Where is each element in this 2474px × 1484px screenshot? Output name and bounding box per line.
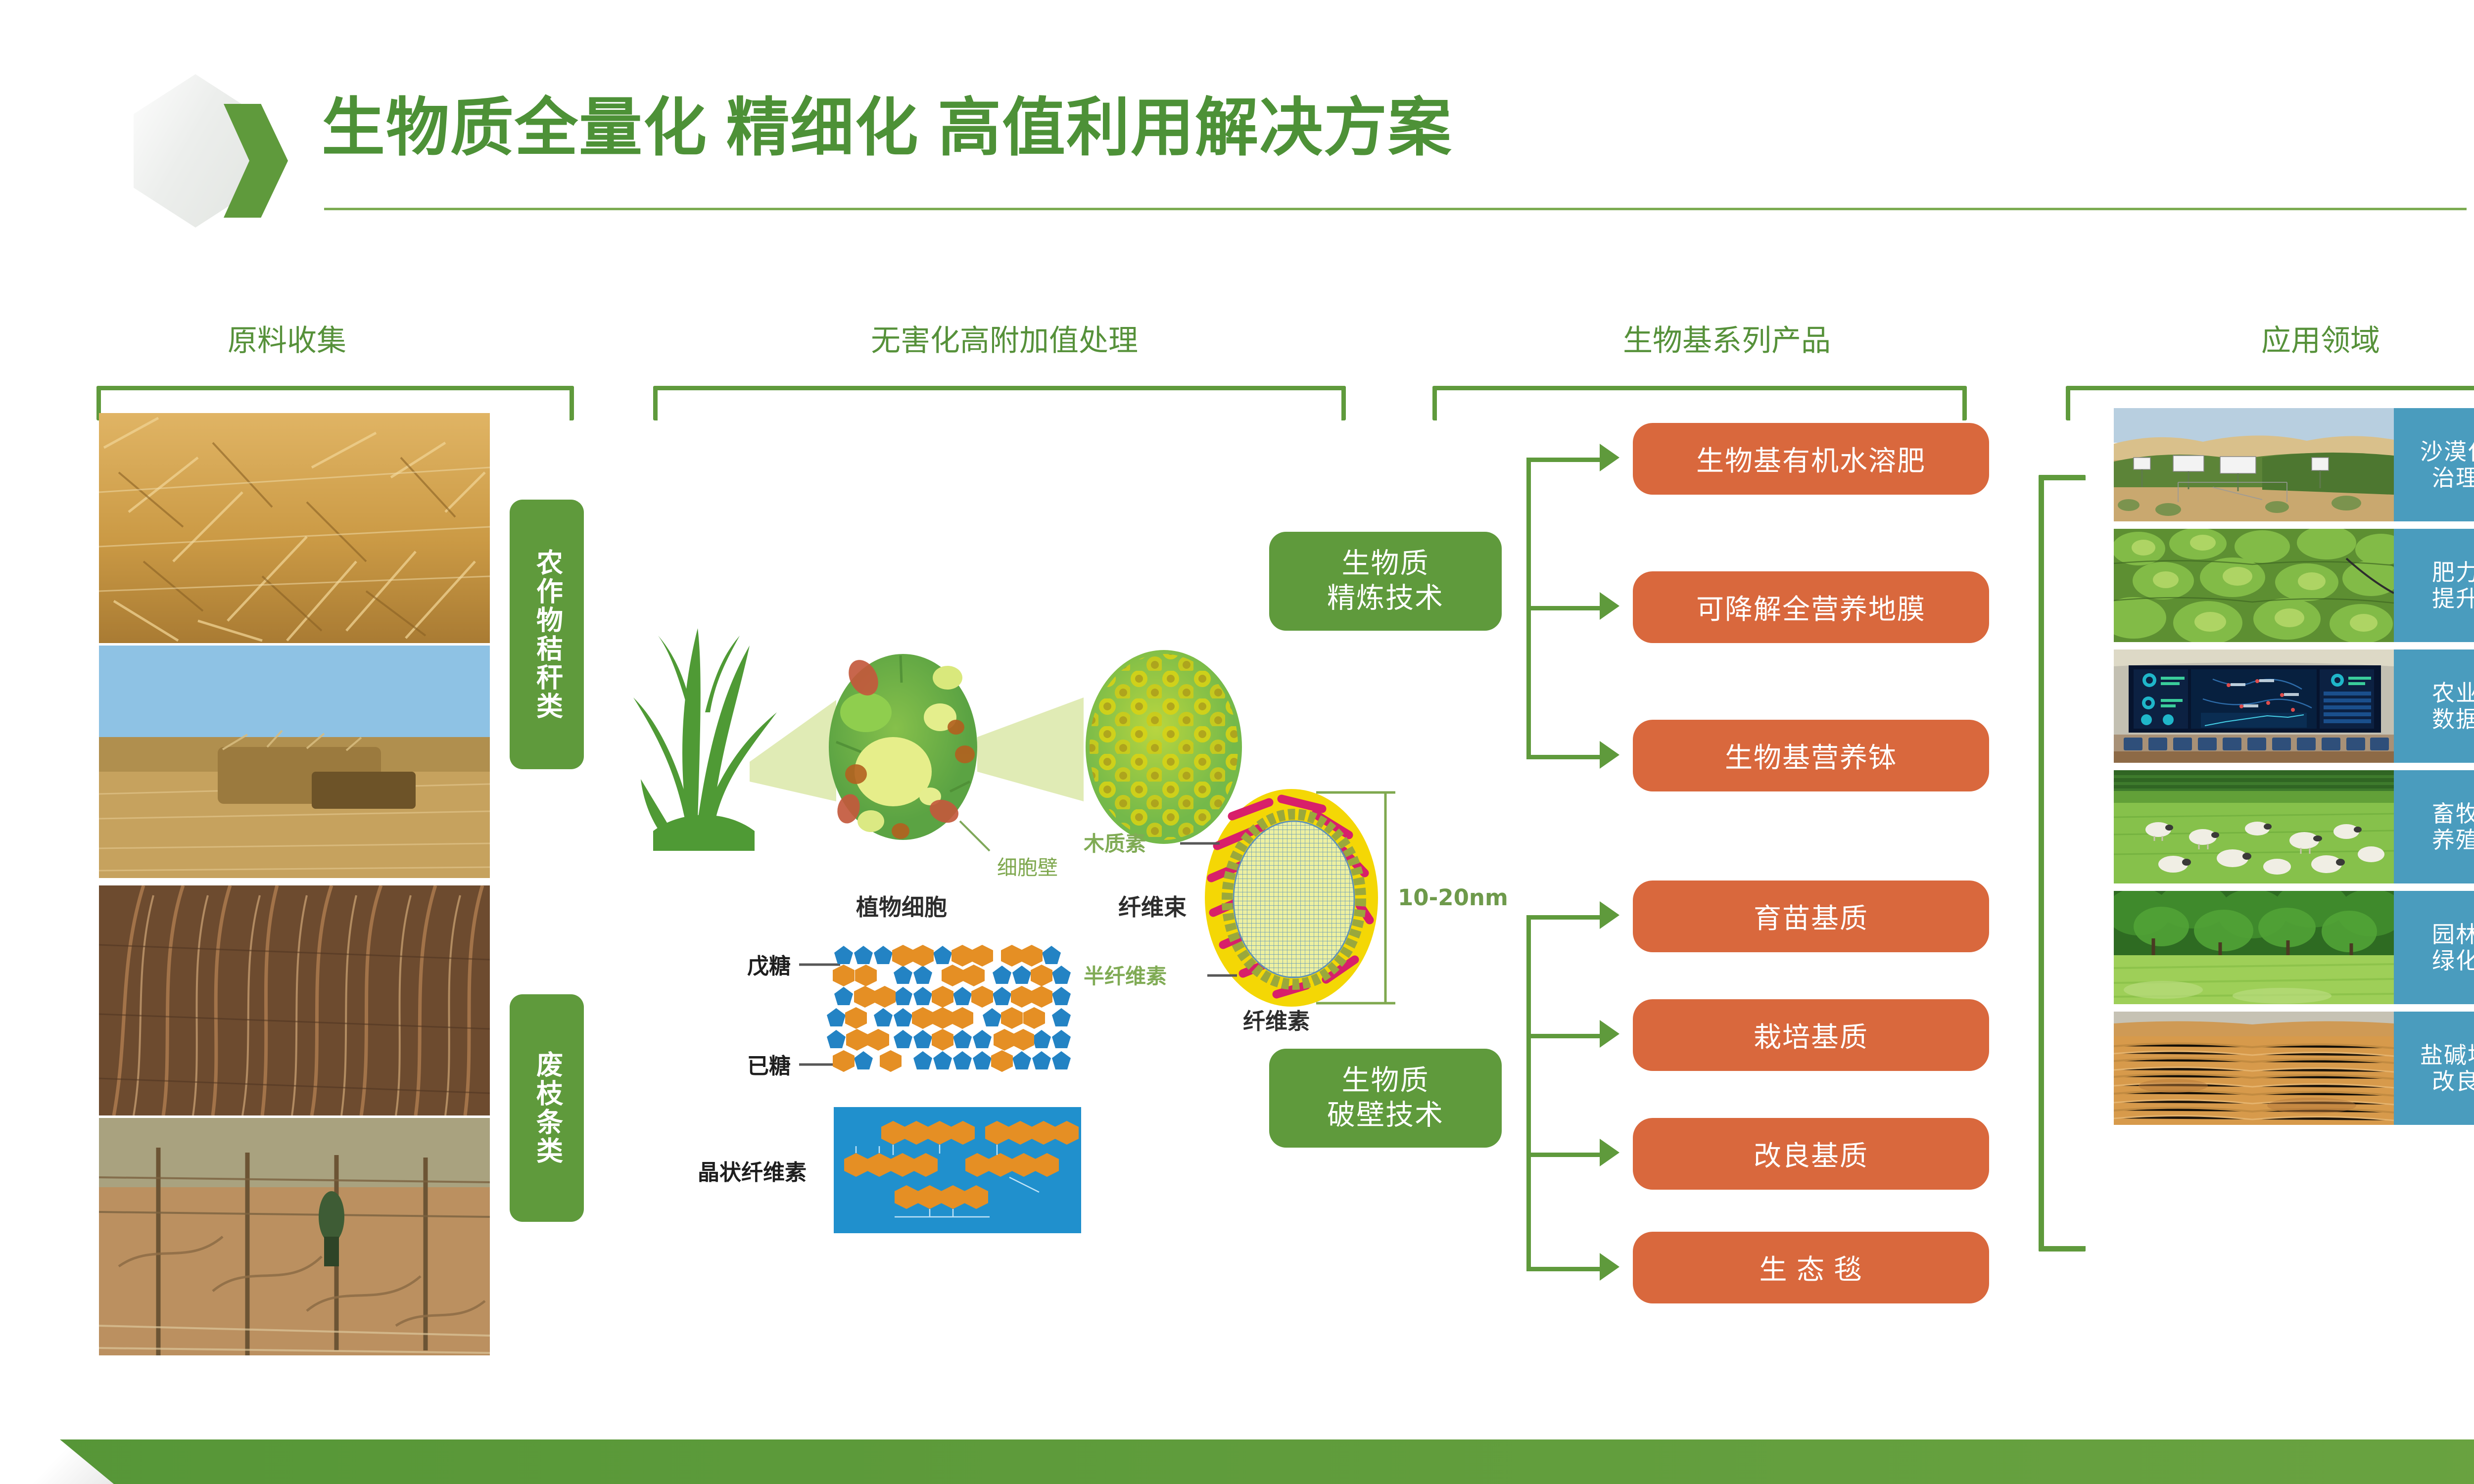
app-3-line1: 农业 (2432, 680, 2474, 706)
application-row-1[interactable]: 沙漠化 治理 (2114, 408, 2474, 521)
bracket-bio-products (1432, 386, 1967, 420)
application-row-6[interactable]: 盐碱地 改良 (2114, 1012, 2474, 1125)
photo-saline-alkali-land (2114, 1012, 2394, 1125)
photo-pruned-branches (99, 885, 490, 1115)
tech-cellwall-line2: 破壁技术 (1327, 1098, 1444, 1133)
photo-corn-stover (99, 413, 490, 643)
app-6-line2: 改良 (2432, 1068, 2474, 1095)
product-box-6[interactable]: 改良基质 (1633, 1118, 1989, 1190)
tech-box-refining[interactable]: 生物质 精炼技术 (1269, 532, 1502, 631)
product-box-5[interactable]: 栽培基质 (1633, 999, 1989, 1071)
footer-bar (0, 1439, 2474, 1484)
photo-straw-bale (99, 646, 490, 878)
hexagon-badge-icon (134, 74, 277, 228)
section-label-bio-products: 生物基系列产品 (1435, 317, 2019, 360)
product-box-3[interactable]: 生物基营养钵 (1633, 720, 1989, 791)
app-5-line2: 绿化 (2432, 948, 2474, 974)
application-row-3[interactable]: 农业 数据 (2114, 649, 2474, 763)
app-1-line1: 沙漠化 (2420, 439, 2474, 465)
tech-refining-line2: 精炼技术 (1327, 581, 1444, 616)
feedstock-label-waste-branches: 废枝条类 (510, 994, 584, 1222)
app-6-line1: 盐碱地 (2420, 1042, 2474, 1068)
application-row-5[interactable]: 园林 绿化 (2114, 891, 2474, 1004)
product-box-2[interactable]: 可降解全营养地膜 (1633, 571, 1989, 643)
label-scale: 10-20nm (1398, 884, 1508, 911)
application-row-2[interactable]: 肥力 提升 (2114, 529, 2474, 642)
photo-vineyard-pruning (99, 1118, 490, 1355)
section-label-processing: 无害化高附加值处理 (594, 317, 1415, 360)
app-3-line2: 数据 (2432, 706, 2474, 733)
label-cell-wall: 细胞壁 (997, 856, 1058, 880)
tech-cellwall-line1: 生物质 (1342, 1064, 1429, 1098)
app-4-line1: 畜牧 (2432, 801, 2474, 827)
label-hexose: 已糖 (747, 1054, 791, 1079)
photo-data-control-room (2114, 649, 2394, 763)
section-label-applications: 应用领域 (2108, 317, 2474, 360)
infographic-canvas: 生物质全量化 精细化 高值利用解决方案 原料收集 无害化高附加值处理 生物基系列… (0, 0, 2474, 1484)
tech-refining-line1: 生物质 (1342, 547, 1429, 581)
photo-cabbage-field (2114, 529, 2394, 642)
application-tag-1: 沙漠化 治理 (2394, 408, 2474, 521)
app-1-line2: 治理 (2432, 465, 2474, 491)
app-2-line2: 提升 (2432, 586, 2474, 612)
application-tag-6: 盐碱地 改良 (2394, 1012, 2474, 1125)
label-plant-cell: 植物细胞 (856, 894, 947, 921)
connector-cell-wall (1526, 915, 1640, 1271)
label-crystalline-cellulose: 晶状纤维素 (698, 1160, 807, 1185)
application-tag-5: 园林 绿化 (2394, 891, 2474, 1004)
product-box-7[interactable]: 生 态 毯 (1633, 1232, 1989, 1303)
footer-corner-left (0, 1390, 114, 1484)
app-5-line1: 园林 (2432, 922, 2474, 948)
app-4-line2: 养殖 (2432, 827, 2474, 853)
label-cellulose: 纤维素 (1243, 1008, 1310, 1034)
application-tag-3: 农业 数据 (2394, 649, 2474, 763)
product-box-4[interactable]: 育苗基质 (1633, 881, 1989, 952)
photo-sheep-grazing (2114, 770, 2394, 883)
label-lignin: 木质素 (1084, 832, 1146, 856)
app-2-line1: 肥力 (2432, 559, 2474, 586)
tech-box-cell-wall[interactable]: 生物质 破壁技术 (1269, 1049, 1502, 1148)
application-tag-2: 肥力 提升 (2394, 529, 2474, 642)
product-box-1[interactable]: 生物基有机水溶肥 (1633, 423, 1989, 495)
photo-park-greening (2114, 891, 2394, 1004)
connector-refining (1526, 458, 1640, 759)
bracket-processing (653, 386, 1346, 420)
feedstock-label-crop-straw: 农作物秸秆类 (510, 500, 584, 769)
sugar-chain-diagram: 戊糖 已糖 晶状纤维素 (693, 930, 1148, 1237)
page-title: 生物质全量化 精细化 高值利用解决方案 (322, 96, 1452, 160)
title-underline (324, 208, 2467, 210)
application-tag-4: 畜牧 养殖 (2394, 770, 2474, 883)
photo-desert-restoration (2114, 408, 2394, 521)
bracket-products-to-applications (2039, 475, 2086, 1252)
application-row-4[interactable]: 畜牧 养殖 (2114, 770, 2474, 883)
section-label-raw-material: 原料收集 (148, 317, 426, 360)
label-pentose: 戊糖 (747, 954, 791, 979)
